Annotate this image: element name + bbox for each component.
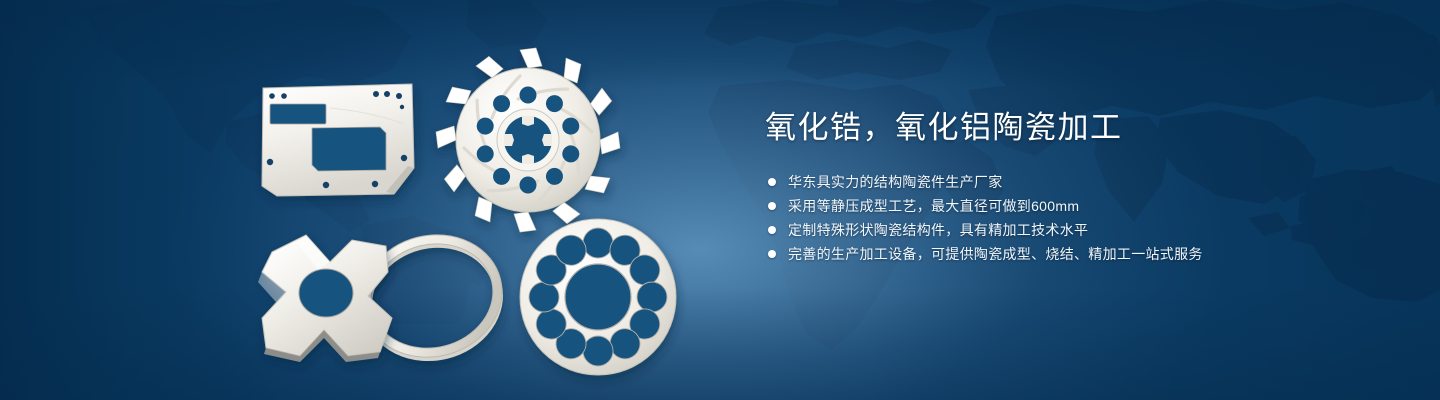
list-item: 采用等静压成型工艺，最大直径可做到600mm — [765, 194, 1385, 217]
list-item: 定制特殊形状陶瓷结构件，具有精加工技术水平 — [765, 218, 1385, 241]
list-item-label: 完善的生产加工设备，可提供陶瓷成型、烧结、精加工一站式服务 — [788, 244, 1203, 264]
ceramic-perforated-disc — [520, 219, 676, 375]
page-title: 氧化锆，氧化铝陶瓷加工 — [765, 108, 1385, 148]
banner-copy: 氧化锆，氧化铝陶瓷加工 华东具实力的结构陶瓷件生产厂家 采用等静压成型工艺，最大… — [765, 108, 1385, 266]
list-item-label: 采用等静压成型工艺，最大直径可做到600mm — [788, 196, 1079, 216]
list-item: 完善的生产加工设备，可提供陶瓷成型、烧结、精加工一站式服务 — [765, 242, 1385, 265]
list-item-label: 定制特殊形状陶瓷结构件，具有精加工技术水平 — [788, 220, 1088, 240]
hero-banner: 氧化锆，氧化铝陶瓷加工 华东具实力的结构陶瓷件生产厂家 采用等静压成型工艺，最大… — [0, 0, 1440, 400]
ceramic-impeller-disc — [436, 48, 620, 232]
feature-list: 华东具实力的结构陶瓷件生产厂家 采用等静压成型工艺，最大直径可做到600mm 定… — [765, 170, 1385, 265]
bullet-dot-icon — [768, 250, 776, 258]
ceramic-base-plate — [262, 84, 414, 196]
bullet-dot-icon — [768, 178, 776, 186]
list-item: 华东具实力的结构陶瓷件生产厂家 — [765, 170, 1385, 193]
list-item-label: 华东具实力的结构陶瓷件生产厂家 — [788, 172, 1003, 192]
bullet-dot-icon — [768, 226, 776, 234]
bullet-dot-icon — [768, 202, 776, 210]
